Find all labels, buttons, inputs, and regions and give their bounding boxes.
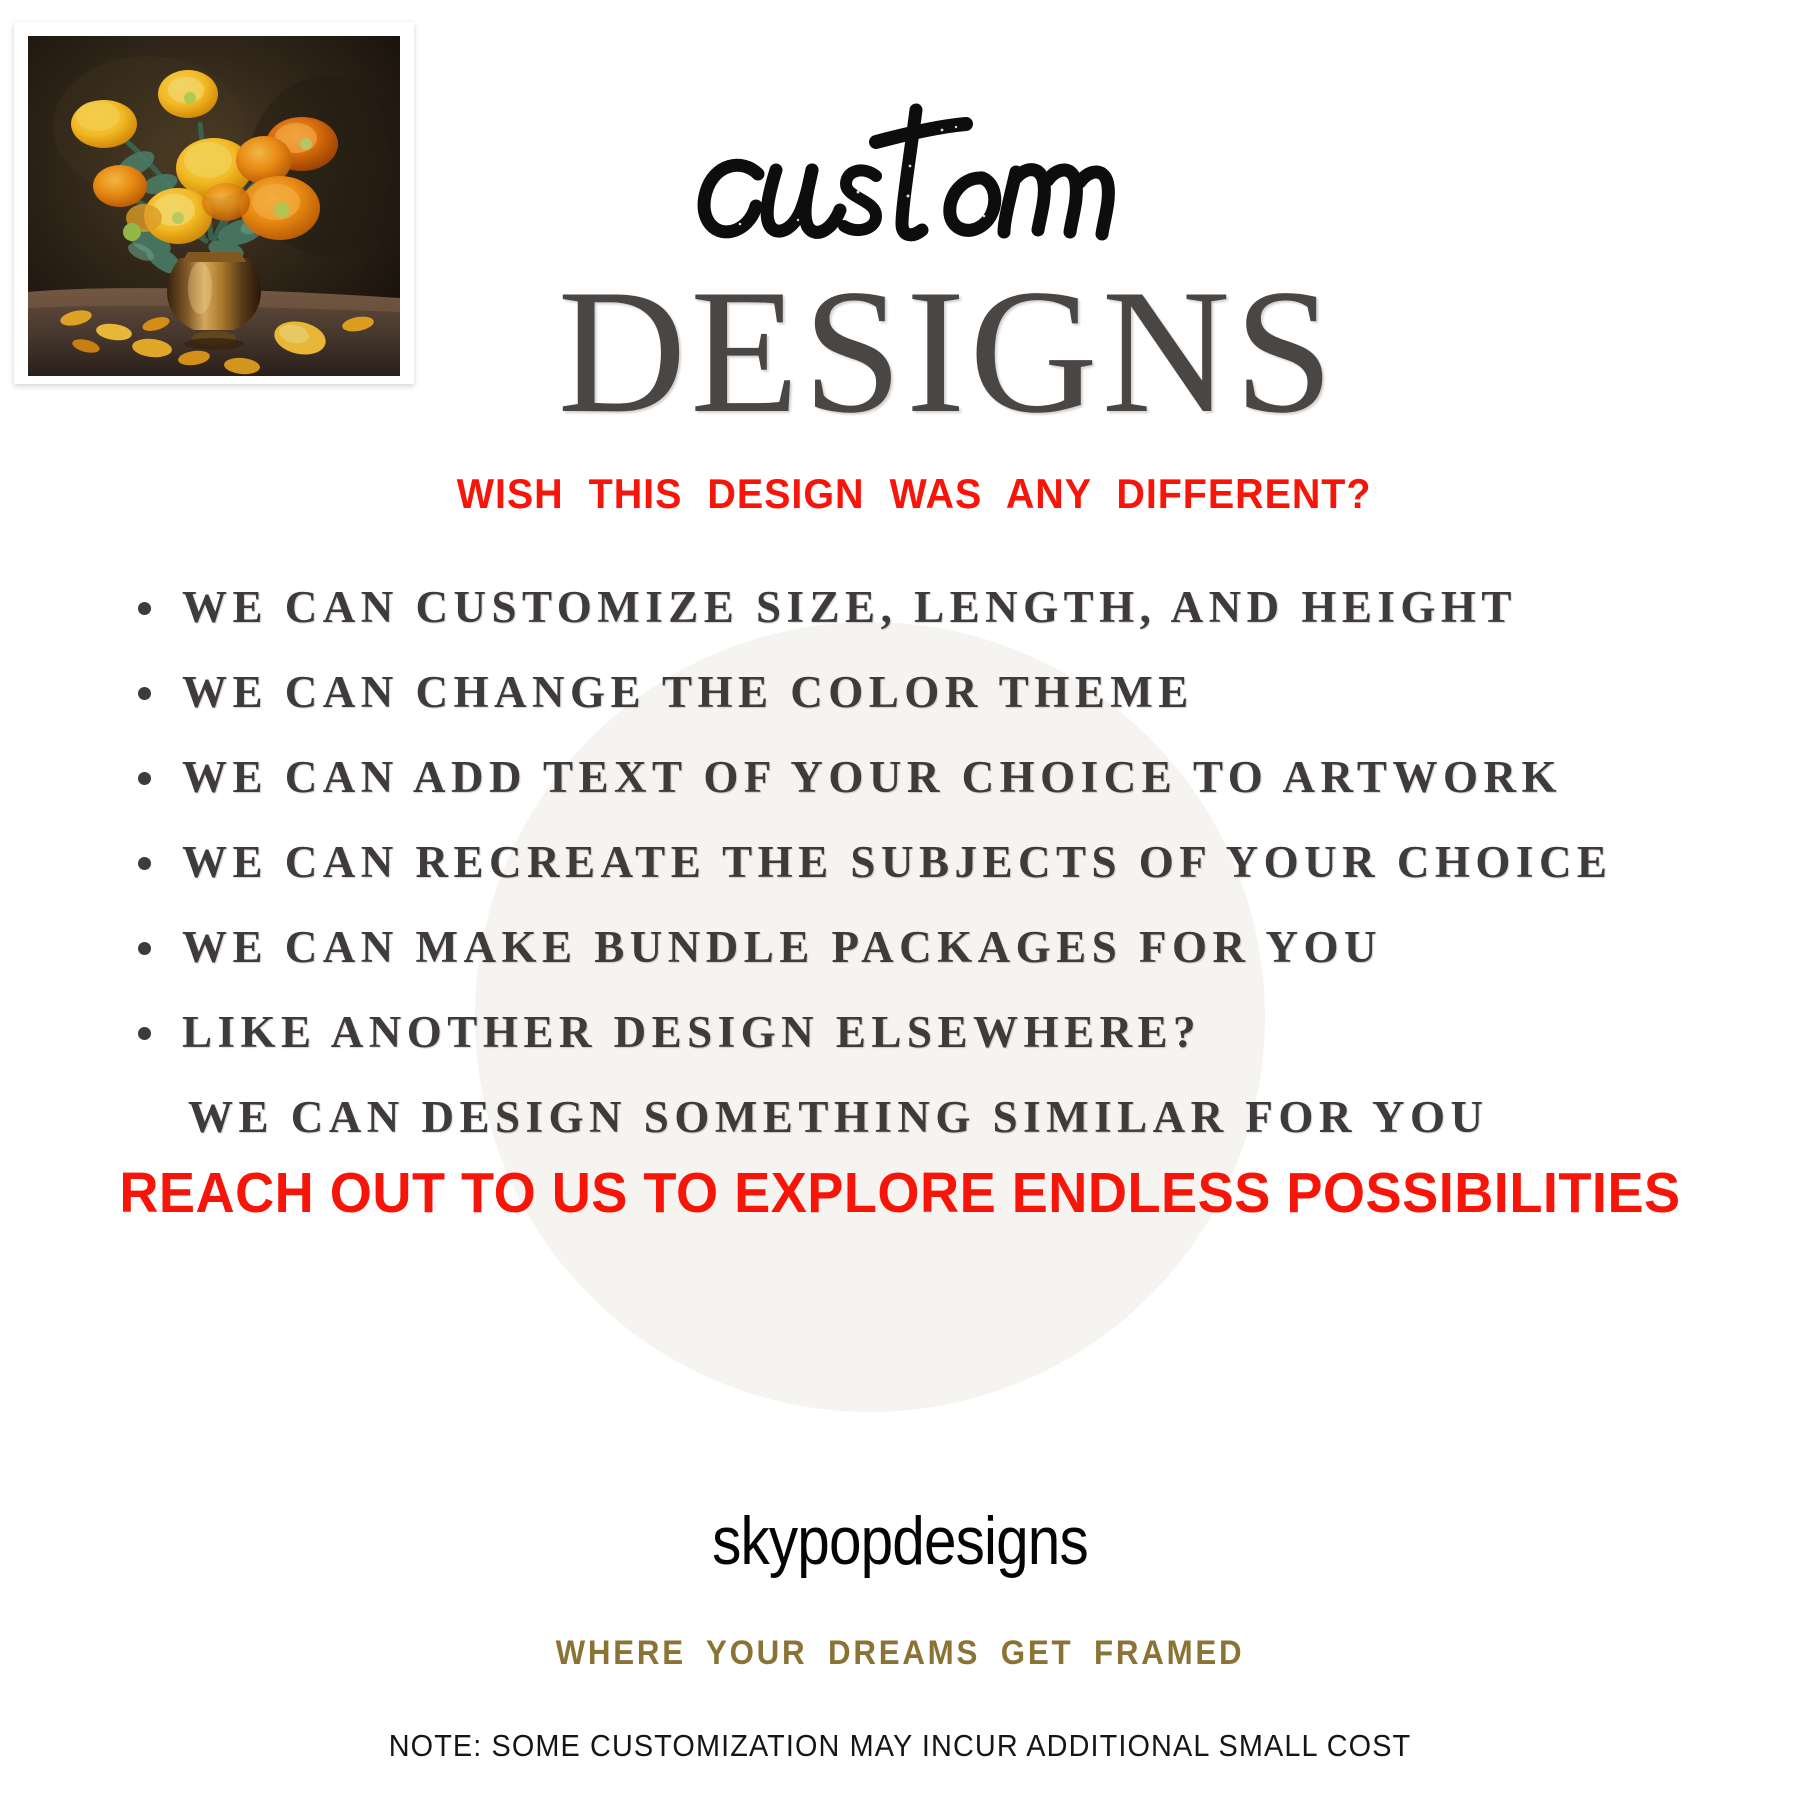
list-item-label: WE CAN CHANGE THE COLOR THEME: [182, 667, 1194, 717]
subtitle-question: WISH THIS DESIGN WAS ANY DIFFERENT?: [54, 470, 1746, 518]
artwork-thumbnail-frame: [14, 22, 414, 384]
list-item-label: WE CAN MAKE BUNDLE PACKAGES FOR YOU: [182, 922, 1382, 972]
custom-script-lettering: [680, 96, 1240, 266]
call-to-action-text: REACH OUT TO US TO EXPLORE ENDLESS POSSI…: [45, 1160, 1755, 1226]
footer-note: NOTE: SOME CUSTOMIZATION MAY INCUR ADDIT…: [63, 1728, 1737, 1764]
list-item: WE CAN ADD TEXT OF YOUR CHOICE TO ARTWOR…: [130, 735, 1690, 820]
list-item: WE CAN CHANGE THE COLOR THEME: [130, 650, 1690, 735]
list-item-label: WE CAN CUSTOMIZE SIZE, LENGTH, AND HEIGH…: [182, 582, 1517, 632]
list-item: WE CAN MAKE BUNDLE PACKAGES FOR YOU: [130, 905, 1690, 990]
list-item-label: LIKE ANOTHER DESIGN ELSEWHERE?: [182, 1007, 1201, 1057]
bullet-dot-icon: [138, 942, 151, 955]
bullet-dot-icon: [138, 687, 151, 700]
feature-list: WE CAN CUSTOMIZE SIZE, LENGTH, AND HEIGH…: [130, 565, 1690, 1160]
brand-logo-text: skypopdesigns: [126, 1502, 1674, 1580]
list-item-label: WE CAN ADD TEXT OF YOUR CHOICE TO ARTWOR…: [182, 752, 1562, 802]
bullet-dot-icon: [138, 772, 151, 785]
list-item-label: WE CAN RECREATE THE SUBJECTS OF YOUR CHO…: [182, 837, 1612, 887]
list-item: WE CAN CUSTOMIZE SIZE, LENGTH, AND HEIGH…: [130, 565, 1690, 650]
list-item-label: WE CAN DESIGN SOMETHING SIMILAR FOR YOU: [188, 1092, 1488, 1142]
list-item: WE CAN RECREATE THE SUBJECTS OF YOUR CHO…: [130, 820, 1690, 905]
bullet-dot-icon: [138, 857, 151, 870]
artwork-painting-image: [28, 36, 400, 376]
bullet-dot-icon: [138, 602, 151, 615]
brand-tagline: WHERE YOUR DREAMS GET FRAMED: [72, 1634, 1728, 1673]
list-item-continuation: WE CAN DESIGN SOMETHING SIMILAR FOR YOU: [130, 1075, 1690, 1160]
painting-illustration: [28, 36, 400, 376]
list-item: LIKE ANOTHER DESIGN ELSEWHERE?: [130, 990, 1690, 1075]
bullet-dot-icon: [138, 1027, 151, 1040]
